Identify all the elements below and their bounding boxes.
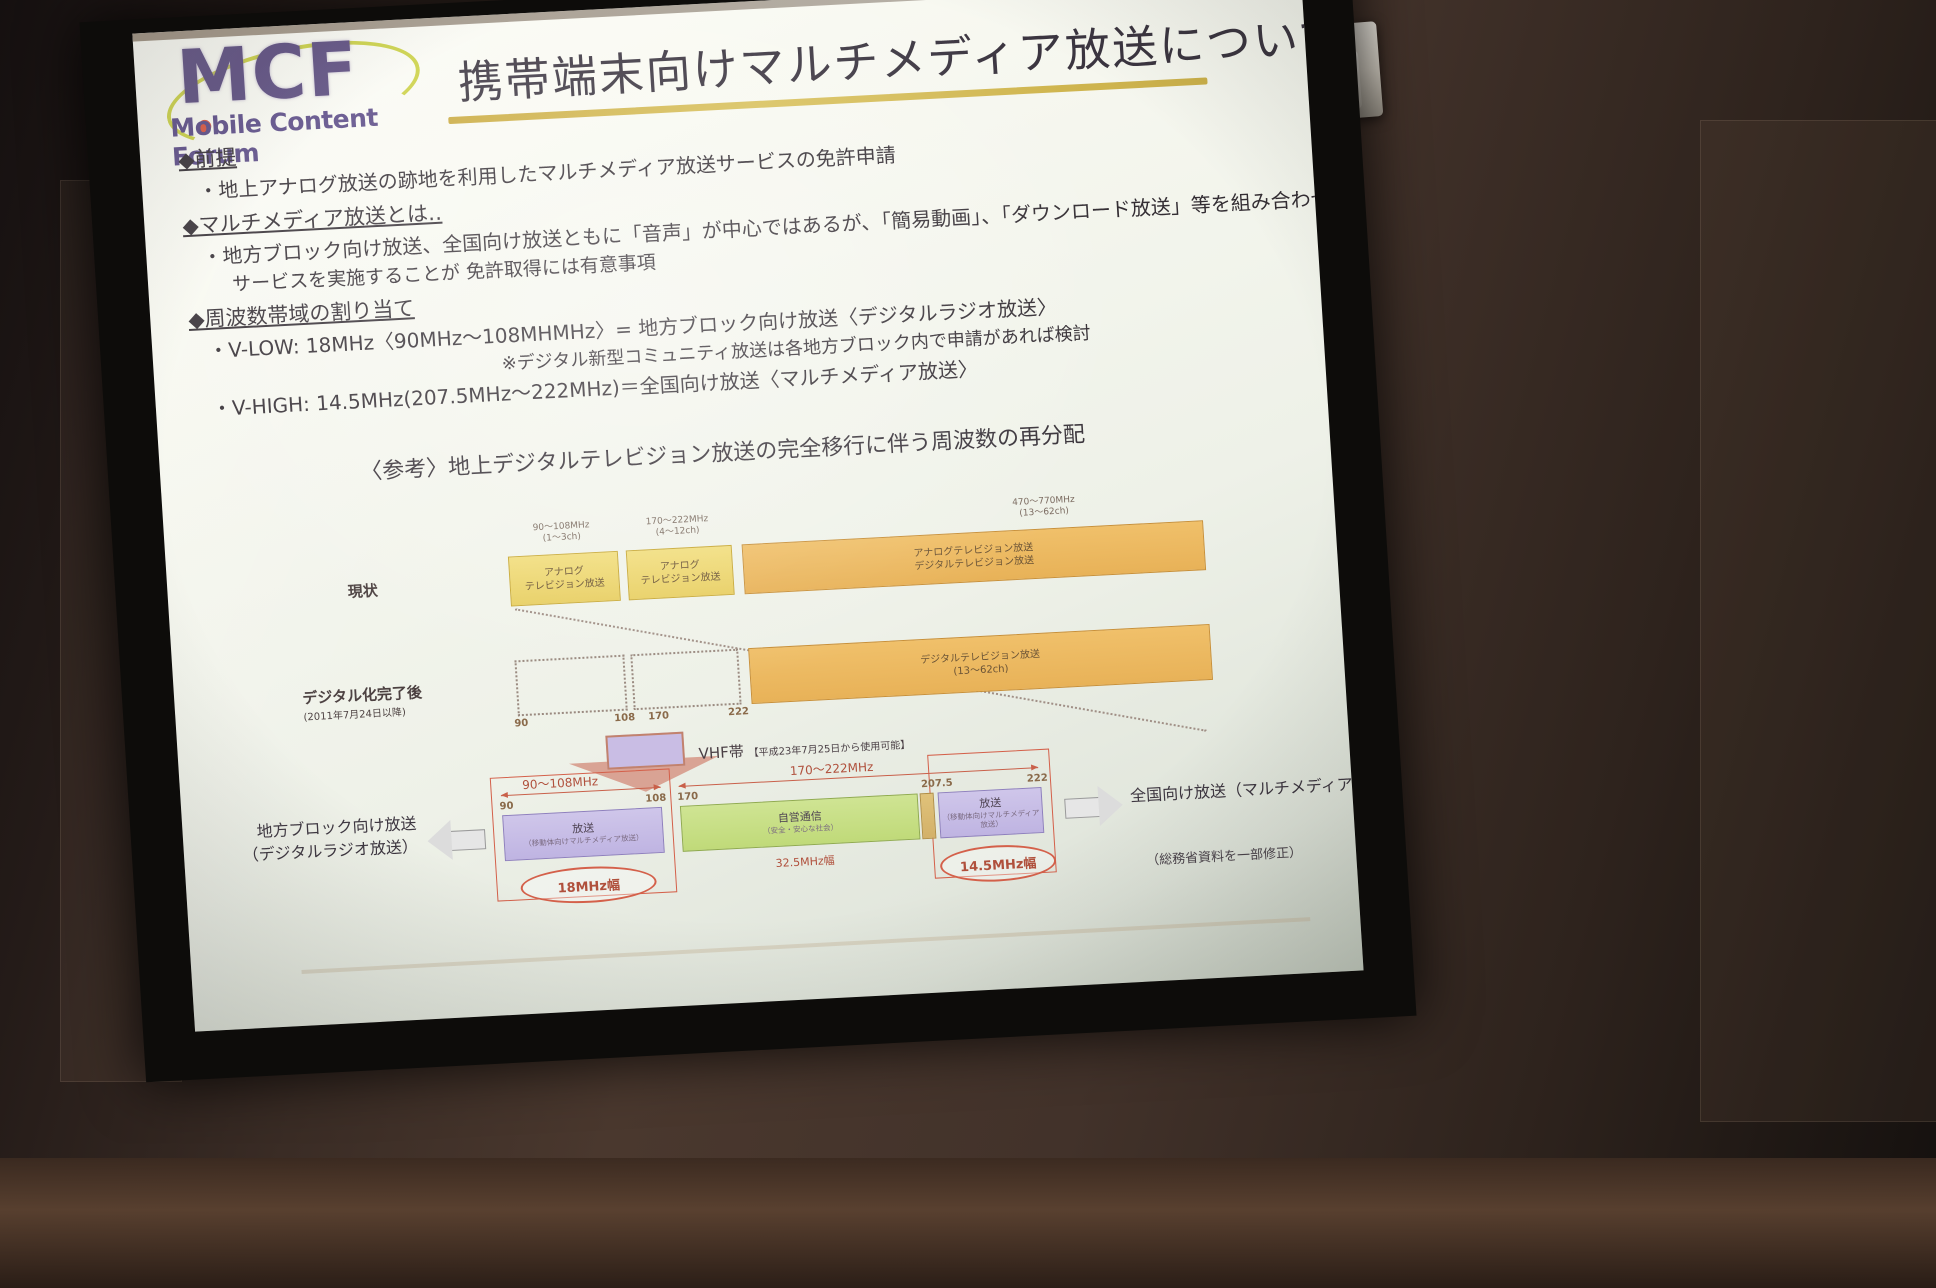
segment-vhigh-sub: （移動体向けマルチメディア放送） bbox=[940, 808, 1043, 832]
vhf-tick-170: 170 bbox=[677, 791, 699, 803]
left-arrow-icon bbox=[426, 818, 486, 861]
band-3-channels: (13～62ch) bbox=[1019, 506, 1069, 519]
band-bar-1-text: アナログテレビジョン放送 bbox=[524, 564, 606, 594]
band-bar-uhf-current: アナログテレビジョン放送デジタルテレビジョン放送 bbox=[742, 520, 1207, 594]
tick-108: 108 bbox=[614, 712, 636, 724]
segment-vlow-broadcast: 放送 （移動体向けマルチメディア放送） bbox=[502, 807, 665, 861]
tick-170: 170 bbox=[648, 710, 670, 722]
band-1-range: 90～108MHz bbox=[532, 520, 589, 533]
segment-comm-sub: （安全・安心な社会） bbox=[763, 823, 838, 836]
wall-panel-right bbox=[1700, 120, 1936, 1122]
projector-screen-frame: MCF Mobile Content Forum 携帯端末向けマルチメディア放送… bbox=[79, 0, 1416, 1082]
presentation-slide: MCF Mobile Content Forum 携帯端末向けマルチメディア放送… bbox=[132, 0, 1363, 1032]
vacated-band-2 bbox=[630, 649, 741, 711]
frequency-reallocation-diagram: 現状 90～108MHz (1～3ch) 170～222MHz (4～12ch)… bbox=[283, 463, 1329, 946]
vhf-tick-222: 222 bbox=[1027, 773, 1049, 785]
photo-of-projected-slide: MCF Mobile Content Forum 携帯端末向けマルチメディア放送… bbox=[0, 0, 1936, 1288]
vhf-band-heading: VHF帯 【平成23年7月25日から使用可能】 bbox=[698, 732, 911, 764]
row-label-after: デジタル化完了後 (2011年7月24日以降) bbox=[302, 681, 424, 723]
segment-vhigh-name: 放送 bbox=[979, 796, 1002, 811]
band-2-channels: (4～12ch) bbox=[655, 526, 699, 538]
reference-heading: 〈参考〉地上デジタルテレビジョン放送の完全移行に伴う周波数の再分配 bbox=[359, 416, 1086, 486]
vhf-heading-text: VHF帯 bbox=[698, 743, 744, 763]
vhf-heading-note: 【平成23年7月25日から使用可能】 bbox=[748, 740, 910, 759]
right-arrow-icon bbox=[1064, 785, 1124, 828]
tick-90: 90 bbox=[514, 718, 529, 730]
segment-vhigh-broadcast: 放送 （移動体向けマルチメディア放送） bbox=[938, 787, 1045, 838]
band-bar-analog-vlow: アナログテレビジョン放送 bbox=[508, 551, 621, 607]
slide-body: ◆前提 ・地上アナログ放送の跡地を利用したマルチメディア放送サービスの免許申請 … bbox=[177, 81, 1313, 424]
band-caption-1: 90～108MHz (1～3ch) bbox=[506, 519, 617, 547]
band-bar-3-text: アナログテレビジョン放送デジタルテレビジョン放送 bbox=[913, 541, 1034, 573]
left-caption: 地方ブロック向け放送（デジタルラジオ放送） bbox=[194, 812, 419, 870]
band-1-channels: (1～3ch) bbox=[542, 532, 581, 544]
segment-vlow-name: 放送 bbox=[572, 822, 595, 837]
segment-guard bbox=[920, 793, 937, 840]
band-bar-analog-vhigh: アナログテレビジョン放送 bbox=[626, 545, 735, 600]
band-caption-2: 170～222MHz (4～12ch) bbox=[624, 513, 731, 541]
band-bar-after-text: デジタルテレビジョン放送(13～62ch) bbox=[920, 648, 1041, 680]
band-bar-digital-after: デジタルテレビジョン放送(13～62ch) bbox=[748, 624, 1213, 704]
row-label-current: 現状 bbox=[347, 579, 378, 602]
band-caption-3: 470～770MHz (13～62ch) bbox=[883, 488, 1204, 527]
width-mid-label: 32.5MHz幅 bbox=[775, 852, 835, 871]
tick-222: 222 bbox=[728, 706, 750, 718]
vhf-tick-108: 108 bbox=[645, 793, 667, 805]
vhf-tick-90: 90 bbox=[499, 801, 514, 813]
segment-vlow-sub: （移動体向けマルチメディア放送） bbox=[524, 833, 644, 849]
source-note: （総務省資料を一部修正） bbox=[1146, 841, 1303, 868]
right-caption: 全国向け放送（マルチメディア放送） bbox=[1129, 770, 1363, 807]
room-floor bbox=[0, 1158, 1936, 1288]
band-bar-2-text: アナログテレビジョン放送 bbox=[639, 558, 721, 588]
vhf-tick-2075: 207.5 bbox=[921, 778, 953, 791]
segment-private-comm: 自営通信 （安全・安心な社会） bbox=[680, 793, 921, 851]
vacated-band-1 bbox=[514, 655, 627, 717]
